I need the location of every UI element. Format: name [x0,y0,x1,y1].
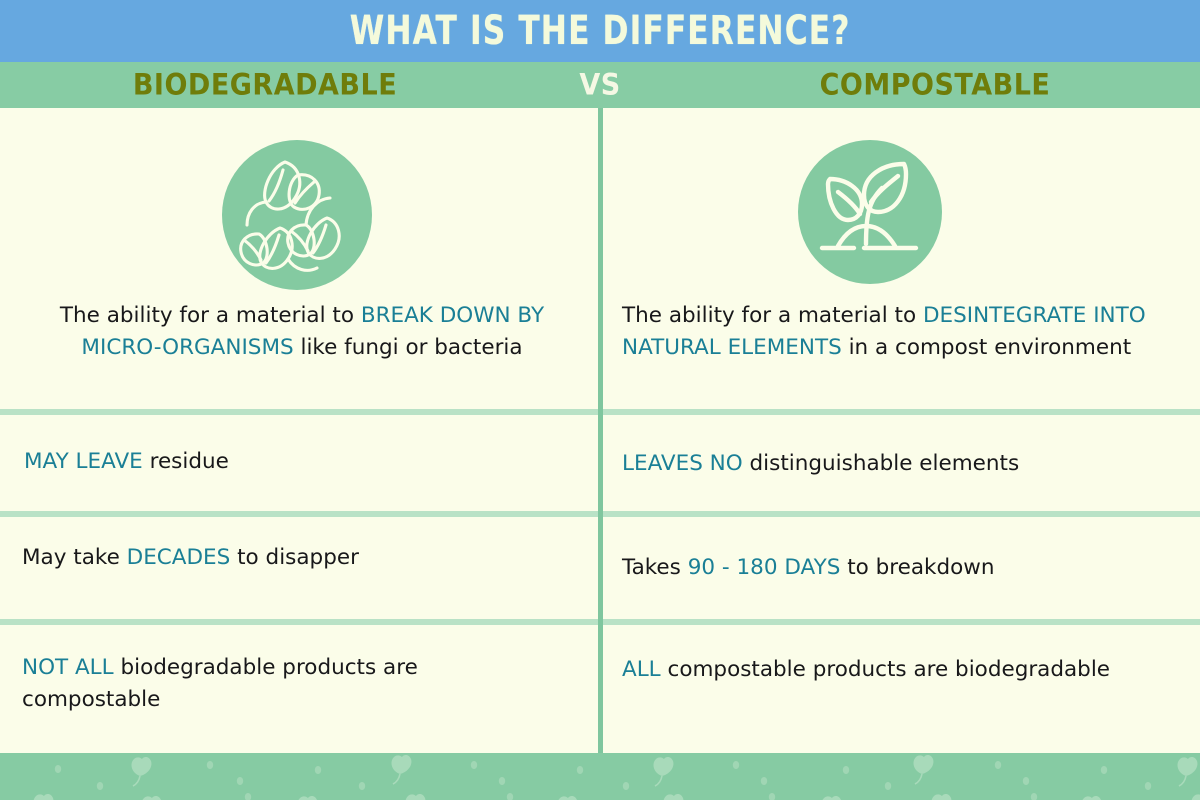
cell-right-timeframe: Takes 90 - 180 DAYS to breakdown [622,552,1167,584]
body-phrase: The ability for a material to [622,303,923,328]
body-phrase: to breakdown [840,555,994,580]
cell-left-residue: MAY LEAVE residue [24,446,569,478]
column-header-vs: VS [530,62,670,108]
cell-right-definition: The ability for a material to DESINTEGRA… [622,300,1167,364]
highlighted-phrase: LEAVES NO [622,451,743,476]
column-header-band: BIODEGRADABLE VS COMPOSTABLE [0,62,1200,108]
highlighted-phrase: 90 - 180 DAYS [688,555,841,580]
column-header-biodegradable: BIODEGRADABLE [0,62,530,108]
body-phrase: in a compost environment [842,335,1131,360]
bottom-leaf-pattern-band [0,753,1200,800]
body-phrase: residue [143,449,229,474]
infographic-canvas: WHAT IS THE DIFFERENCE? BIODEGRADABLE VS… [0,0,1200,800]
body-phrase: like fungi or bacteria [294,335,523,360]
cell-right-relationship: ALL compostable products are biodegradab… [622,654,1182,686]
highlighted-phrase: ALL [622,657,661,682]
vs-label: VS [579,68,620,101]
highlighted-phrase: MAY LEAVE [24,449,143,474]
column-header-compostable: COMPOSTABLE [670,62,1200,108]
cell-left-definition: The ability for a material to BREAK DOWN… [22,300,582,364]
title-bar: WHAT IS THE DIFFERENCE? [0,0,1200,62]
column-divider [598,108,603,753]
page-title: WHAT IS THE DIFFERENCE? [350,7,851,54]
highlighted-phrase: DECADES [127,545,231,570]
body-phrase: to disapper [230,545,359,570]
body-phrase: May take [22,545,127,570]
body-phrase: The ability for a material to [60,303,361,328]
cell-left-timeframe: May take DECADES to disapper [22,542,567,574]
falling-leaves-icon [222,140,372,290]
body-phrase: compostable products are biodegradable [661,657,1110,682]
column-header-left-label: BIODEGRADABLE [133,68,397,101]
highlighted-phrase: NOT ALL [22,655,114,680]
seedling-sprout-icon [798,140,942,284]
cell-left-relationship: NOT ALL biodegradable products are compo… [22,652,562,716]
body-phrase: distinguishable elements [743,451,1019,476]
cell-right-residue: LEAVES NO distinguishable elements [622,448,1167,480]
column-header-right-label: COMPOSTABLE [820,68,1051,101]
body-phrase: Takes [622,555,688,580]
